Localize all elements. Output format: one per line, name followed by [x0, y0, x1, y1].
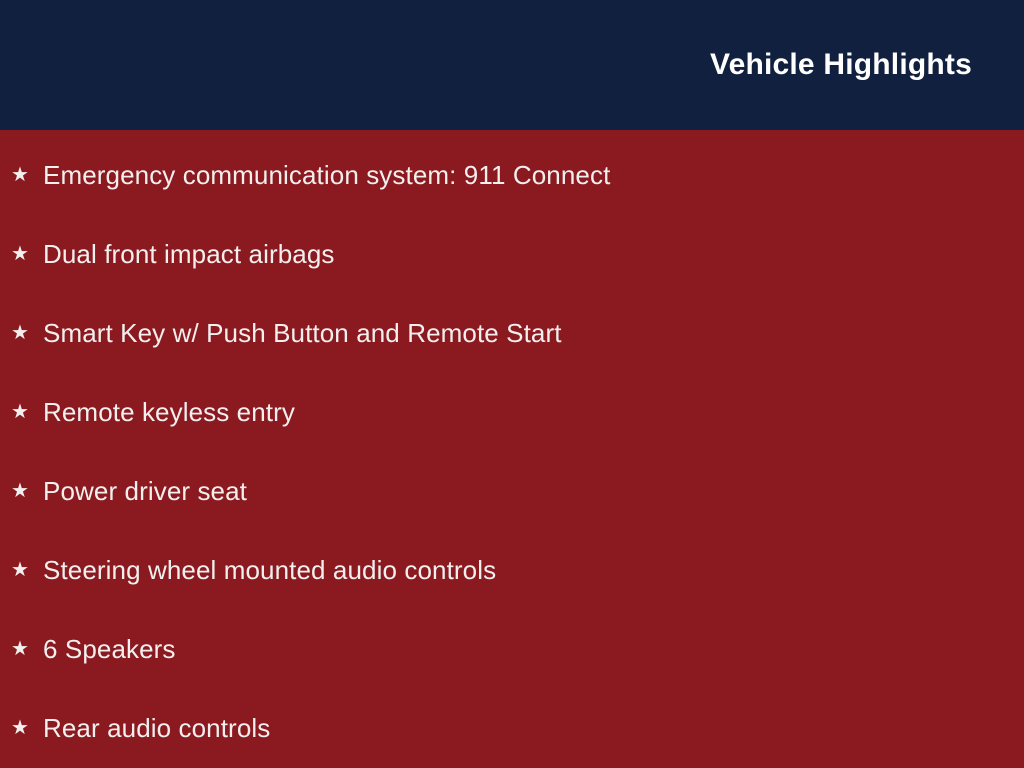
list-item: ★ Emergency communication system: 911 Co…: [0, 135, 1024, 214]
star-icon: ★: [11, 481, 35, 501]
list-item-label: Emergency communication system: 911 Conn…: [43, 159, 610, 191]
star-icon: ★: [11, 165, 35, 185]
list-item: ★ Dual front impact airbags: [0, 214, 1024, 293]
list-item-label: Power driver seat: [43, 475, 247, 507]
list-item-label: Rear audio controls: [43, 712, 270, 744]
list-item: ★ Steering wheel mounted audio controls: [0, 530, 1024, 609]
vehicle-highlights-list: ★ Emergency communication system: 911 Co…: [0, 130, 1024, 768]
star-icon: ★: [11, 560, 35, 580]
star-icon: ★: [11, 323, 35, 343]
list-item-label: Steering wheel mounted audio controls: [43, 554, 496, 586]
star-icon: ★: [11, 244, 35, 264]
list-item: ★ Rear audio controls: [0, 688, 1024, 767]
list-item: ★ Power driver seat: [0, 451, 1024, 530]
star-icon: ★: [11, 639, 35, 659]
star-icon: ★: [11, 718, 35, 738]
list-item: ★ 6 Speakers: [0, 609, 1024, 688]
list-item-label: Remote keyless entry: [43, 396, 295, 428]
star-icon: ★: [11, 402, 35, 422]
page-title: Vehicle Highlights: [710, 46, 972, 84]
list-item: ★ Remote keyless entry: [0, 372, 1024, 451]
list-item-label: 6 Speakers: [43, 633, 176, 665]
header-band: Vehicle Highlights: [0, 0, 1024, 130]
list-item: ★ Smart Key w/ Push Button and Remote St…: [0, 293, 1024, 372]
slide-vehicle-highlights: Vehicle Highlights ★ Emergency communica…: [0, 0, 1024, 768]
list-item-label: Dual front impact airbags: [43, 238, 335, 270]
list-item-label: Smart Key w/ Push Button and Remote Star…: [43, 317, 562, 349]
